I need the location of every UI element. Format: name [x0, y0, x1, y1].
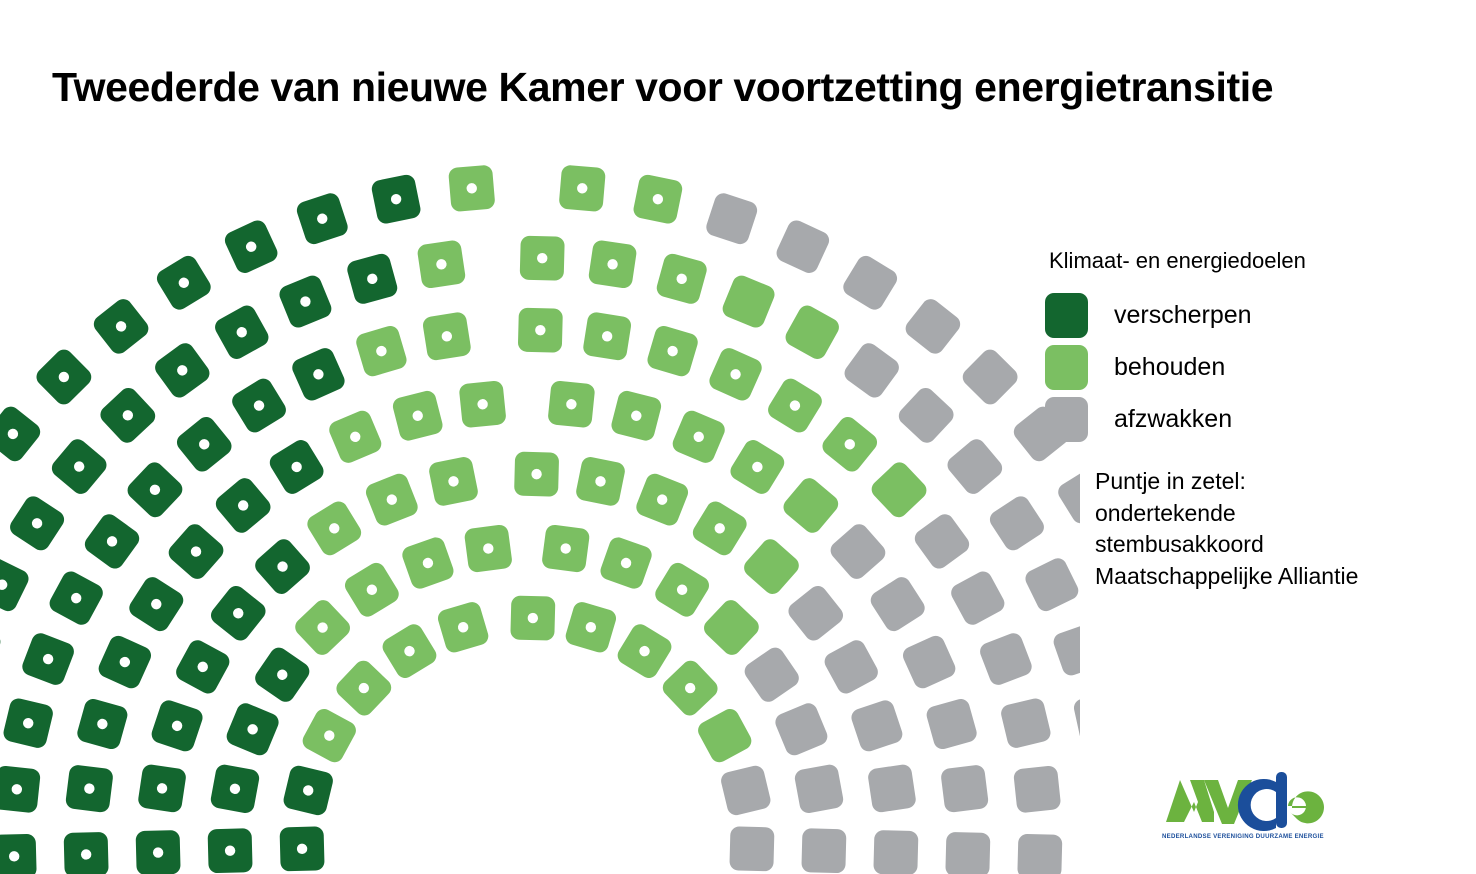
seat-verscherpen: [370, 173, 422, 225]
seat-verscherpen: [229, 375, 290, 436]
seat-afzwakken: [773, 701, 830, 758]
parliament-seat-chart: [0, 0, 1080, 874]
seat-row: [280, 596, 775, 872]
seat-verscherpen: [224, 701, 281, 758]
seat-behouden: [379, 621, 440, 682]
seat-verscherpen: [7, 493, 68, 554]
seat-behouden: [564, 600, 619, 655]
seat-afzwakken: [873, 830, 918, 874]
seat-verscherpen: [137, 763, 187, 813]
seat-verscherpen: [208, 828, 253, 873]
legend-heading: Klimaat- en energiedoelen: [1049, 248, 1465, 274]
seat-behouden: [514, 452, 559, 497]
legend-note-line-3: stembusakkoord: [1095, 529, 1465, 561]
seat-shape: [999, 697, 1052, 750]
seat-behouden: [652, 559, 713, 620]
legend-note-line-1: Puntje in zetel:: [1095, 466, 1465, 498]
seat-shape: [1017, 834, 1062, 874]
seat-shape: [868, 459, 930, 521]
seat-shape: [895, 384, 957, 446]
seat-verscherpen: [212, 302, 272, 362]
legend-panel: Klimaat- en energiedoelen verscherpen be…: [1045, 248, 1465, 592]
seat-afzwakken: [895, 384, 957, 446]
seat-verscherpen: [90, 295, 152, 357]
nvde-wordmark: [1166, 772, 1324, 831]
seat-shape: [873, 830, 918, 874]
seat-verscherpen: [222, 217, 280, 275]
seat-afzwakken: [911, 511, 972, 572]
seat-afzwakken: [841, 340, 902, 401]
seat-verscherpen: [295, 191, 351, 247]
seat-shape: [849, 698, 905, 754]
seat-verscherpen: [136, 830, 181, 874]
seat-verscherpen: [212, 474, 274, 536]
seat-behouden: [765, 375, 826, 436]
seat-afzwakken: [948, 568, 1008, 628]
seat-verscherpen: [173, 637, 233, 697]
seat-shape: [719, 764, 772, 817]
seat-verscherpen: [0, 555, 32, 614]
legend-item-behouden: behouden: [1045, 342, 1465, 392]
seat-shape: [1072, 692, 1080, 744]
seat-behouden: [391, 389, 445, 443]
seat-behouden: [436, 600, 491, 655]
seat-shape: [0, 403, 44, 465]
nvde-logo: NEDERLANDSE VERENIGING DUURZAME ENERGIE: [1160, 768, 1330, 844]
seat-afzwakken: [867, 763, 917, 813]
seat-verscherpen: [280, 826, 325, 871]
seat-verscherpen: [165, 520, 227, 582]
seat-behouden: [598, 535, 654, 591]
seat-verscherpen: [345, 252, 399, 306]
seat-afzwakken: [704, 191, 760, 247]
seat-verscherpen: [251, 536, 313, 598]
seat-verscherpen: [64, 832, 109, 874]
seat-verscherpen: [33, 346, 95, 408]
seat-afzwakken: [999, 697, 1052, 750]
seat-shape: [867, 574, 928, 635]
seat-afzwakken: [741, 644, 802, 705]
seat-behouden: [464, 524, 513, 573]
seat-shape: [0, 622, 3, 678]
seat-shape: [720, 273, 777, 330]
seat-shape: [729, 826, 774, 871]
seat-verscherpen: [124, 459, 186, 521]
seat-behouden: [428, 455, 480, 507]
seat-shape: [695, 706, 755, 766]
legend-item-afzwakken: afzwakken: [1045, 394, 1465, 444]
seat-shape: [821, 637, 881, 697]
seat-shape: [902, 295, 964, 357]
seat-behouden: [291, 596, 353, 658]
seat-afzwakken: [719, 764, 772, 817]
seat-verscherpen: [149, 698, 205, 754]
seat-behouden: [614, 621, 675, 682]
parliament-svg: [0, 0, 1080, 874]
seat-verscherpen: [154, 252, 215, 313]
logo-letter-d-stem: [1276, 772, 1287, 828]
legend-label-afzwakken: afzwakken: [1114, 405, 1232, 434]
seat-verscherpen: [0, 765, 41, 813]
seat-behouden: [541, 524, 590, 573]
seat-afzwakken: [1051, 622, 1080, 678]
seat-shape: [740, 536, 802, 598]
seat-behouden: [659, 657, 721, 719]
seat-verscherpen: [282, 764, 335, 817]
seat-afzwakken: [986, 493, 1047, 554]
seat-verscherpen: [96, 633, 154, 691]
seat-verscherpen: [48, 436, 110, 498]
seat-verscherpen: [266, 437, 327, 498]
seat-afzwakken: [1072, 692, 1080, 744]
seat-verscherpen: [207, 582, 269, 644]
seat-afzwakken: [801, 828, 846, 873]
seat-afzwakken: [827, 520, 889, 582]
seat-verscherpen: [252, 644, 313, 705]
seat-behouden: [707, 345, 765, 403]
seat-verscherpen: [0, 834, 37, 874]
seat-shape: [793, 763, 844, 814]
seat-behouden: [575, 455, 627, 507]
seat-verscherpen: [97, 384, 159, 446]
seat-shape: [841, 340, 902, 401]
seat-verscherpen: [277, 273, 334, 330]
seat-behouden: [459, 380, 507, 428]
seat-afzwakken: [902, 295, 964, 357]
legend-swatch-afzwakken: [1045, 397, 1088, 442]
seat-behouden: [670, 408, 728, 466]
seat-shape: [900, 633, 958, 691]
seat-behouden: [326, 408, 384, 466]
legend-item-verscherpen: verscherpen: [1045, 290, 1465, 340]
seat-shape: [700, 596, 762, 658]
seat-shape: [945, 832, 990, 874]
seat-behouden: [655, 252, 709, 306]
seat-afzwakken: [959, 346, 1021, 408]
seat-shape: [911, 511, 972, 572]
seat-afzwakken: [900, 633, 958, 691]
seat-afzwakken: [840, 252, 901, 313]
seat-verscherpen: [152, 340, 213, 401]
seat-shape: [948, 568, 1008, 628]
seat-shape: [940, 764, 989, 813]
seat-afzwakken: [925, 697, 979, 751]
seat-afzwakken: [940, 764, 989, 813]
seat-shape: [827, 520, 889, 582]
seat-verscherpen: [81, 511, 142, 572]
seat-behouden: [610, 389, 664, 443]
seat-behouden: [299, 706, 359, 766]
seat-afzwakken: [793, 763, 844, 814]
seat-behouden: [727, 437, 788, 498]
seat-shape: [959, 346, 1021, 408]
seat-verscherpen: [20, 631, 77, 688]
seat-verscherpen: [2, 697, 55, 750]
seat-shape: [1051, 622, 1080, 678]
seat-behouden: [354, 324, 409, 379]
legend-swatch-behouden: [1045, 345, 1088, 390]
seat-shape: [741, 644, 802, 705]
seat-shape: [780, 474, 842, 536]
seat-behouden: [400, 535, 456, 591]
seat-behouden: [518, 308, 563, 353]
seat-shape: [782, 302, 842, 362]
seat-verscherpen: [65, 764, 114, 813]
seat-behouden: [780, 474, 842, 536]
seat-behouden: [689, 498, 750, 559]
seat-shape: [944, 436, 1006, 498]
seat-afzwakken: [944, 436, 1006, 498]
seat-shape: [867, 763, 917, 813]
seat-shape: [704, 191, 760, 247]
seat-behouden: [363, 471, 420, 528]
legend-note: Puntje in zetel: ondertekende stembusakk…: [1095, 466, 1465, 592]
seat-verscherpen: [126, 574, 187, 635]
logo-tagline: NEDERLANDSE VERENIGING DUURZAME ENERGIE: [1162, 833, 1324, 840]
seat-shape: [785, 582, 847, 644]
seat-verscherpen: [75, 697, 129, 751]
seat-behouden: [632, 173, 684, 225]
seat-behouden: [868, 459, 930, 521]
seat-behouden: [645, 324, 700, 379]
seat-afzwakken: [977, 631, 1034, 688]
nvde-logo-svg: NEDERLANDSE VERENIGING DUURZAME ENERGIE: [1160, 768, 1330, 844]
seat-afzwakken: [1013, 765, 1061, 813]
legend-swatch-verscherpen: [1045, 293, 1088, 338]
legend-note-line-2: ondertekende: [1095, 498, 1465, 530]
seat-behouden: [448, 165, 496, 213]
seat-shape: [977, 631, 1034, 688]
seat-afzwakken: [1017, 834, 1062, 874]
legend-label-behouden: behouden: [1114, 353, 1225, 382]
seat-behouden: [720, 273, 777, 330]
legend-label-verscherpen: verscherpen: [1114, 301, 1252, 330]
seat-afzwakken: [821, 637, 881, 697]
seat-afzwakken: [785, 582, 847, 644]
seat-behouden: [520, 236, 565, 281]
legend-note-line-4: Maatschappelijke Alliantie: [1095, 561, 1465, 593]
seat-behouden: [588, 239, 638, 289]
seat-afzwakken: [867, 574, 928, 635]
seat-behouden: [695, 706, 755, 766]
seat-afzwakken: [774, 217, 832, 275]
seat-shape: [1013, 765, 1061, 813]
seat-shape: [925, 697, 979, 751]
seat-shape: [840, 252, 901, 313]
seat-behouden: [547, 380, 595, 428]
seat-behouden: [700, 596, 762, 658]
seat-verscherpen: [173, 413, 235, 475]
seat-behouden: [422, 311, 472, 361]
seat-behouden: [740, 536, 802, 598]
logo-letter-e: [1288, 791, 1324, 823]
seat-verscherpen: [289, 345, 347, 403]
seat-behouden: [558, 165, 606, 213]
seat-behouden: [782, 302, 842, 362]
seat-behouden: [416, 239, 466, 289]
seat-verscherpen: [0, 622, 3, 678]
seat-shape: [773, 701, 830, 758]
seat-afzwakken: [945, 832, 990, 874]
seat-verscherpen: [209, 763, 260, 814]
seat-behouden: [342, 559, 403, 620]
seat-afzwakken: [849, 698, 905, 754]
seat-behouden: [582, 311, 632, 361]
seat-behouden: [304, 498, 365, 559]
seat-shape: [774, 217, 832, 275]
seat-behouden: [634, 471, 691, 528]
seat-verscherpen: [46, 568, 106, 628]
seat-verscherpen: [0, 403, 44, 465]
seat-behouden: [819, 413, 881, 475]
seat-shape: [986, 493, 1047, 554]
seat-shape: [801, 828, 846, 873]
seat-behouden: [333, 657, 395, 719]
seat-behouden: [510, 596, 555, 641]
seat-afzwakken: [729, 826, 774, 871]
